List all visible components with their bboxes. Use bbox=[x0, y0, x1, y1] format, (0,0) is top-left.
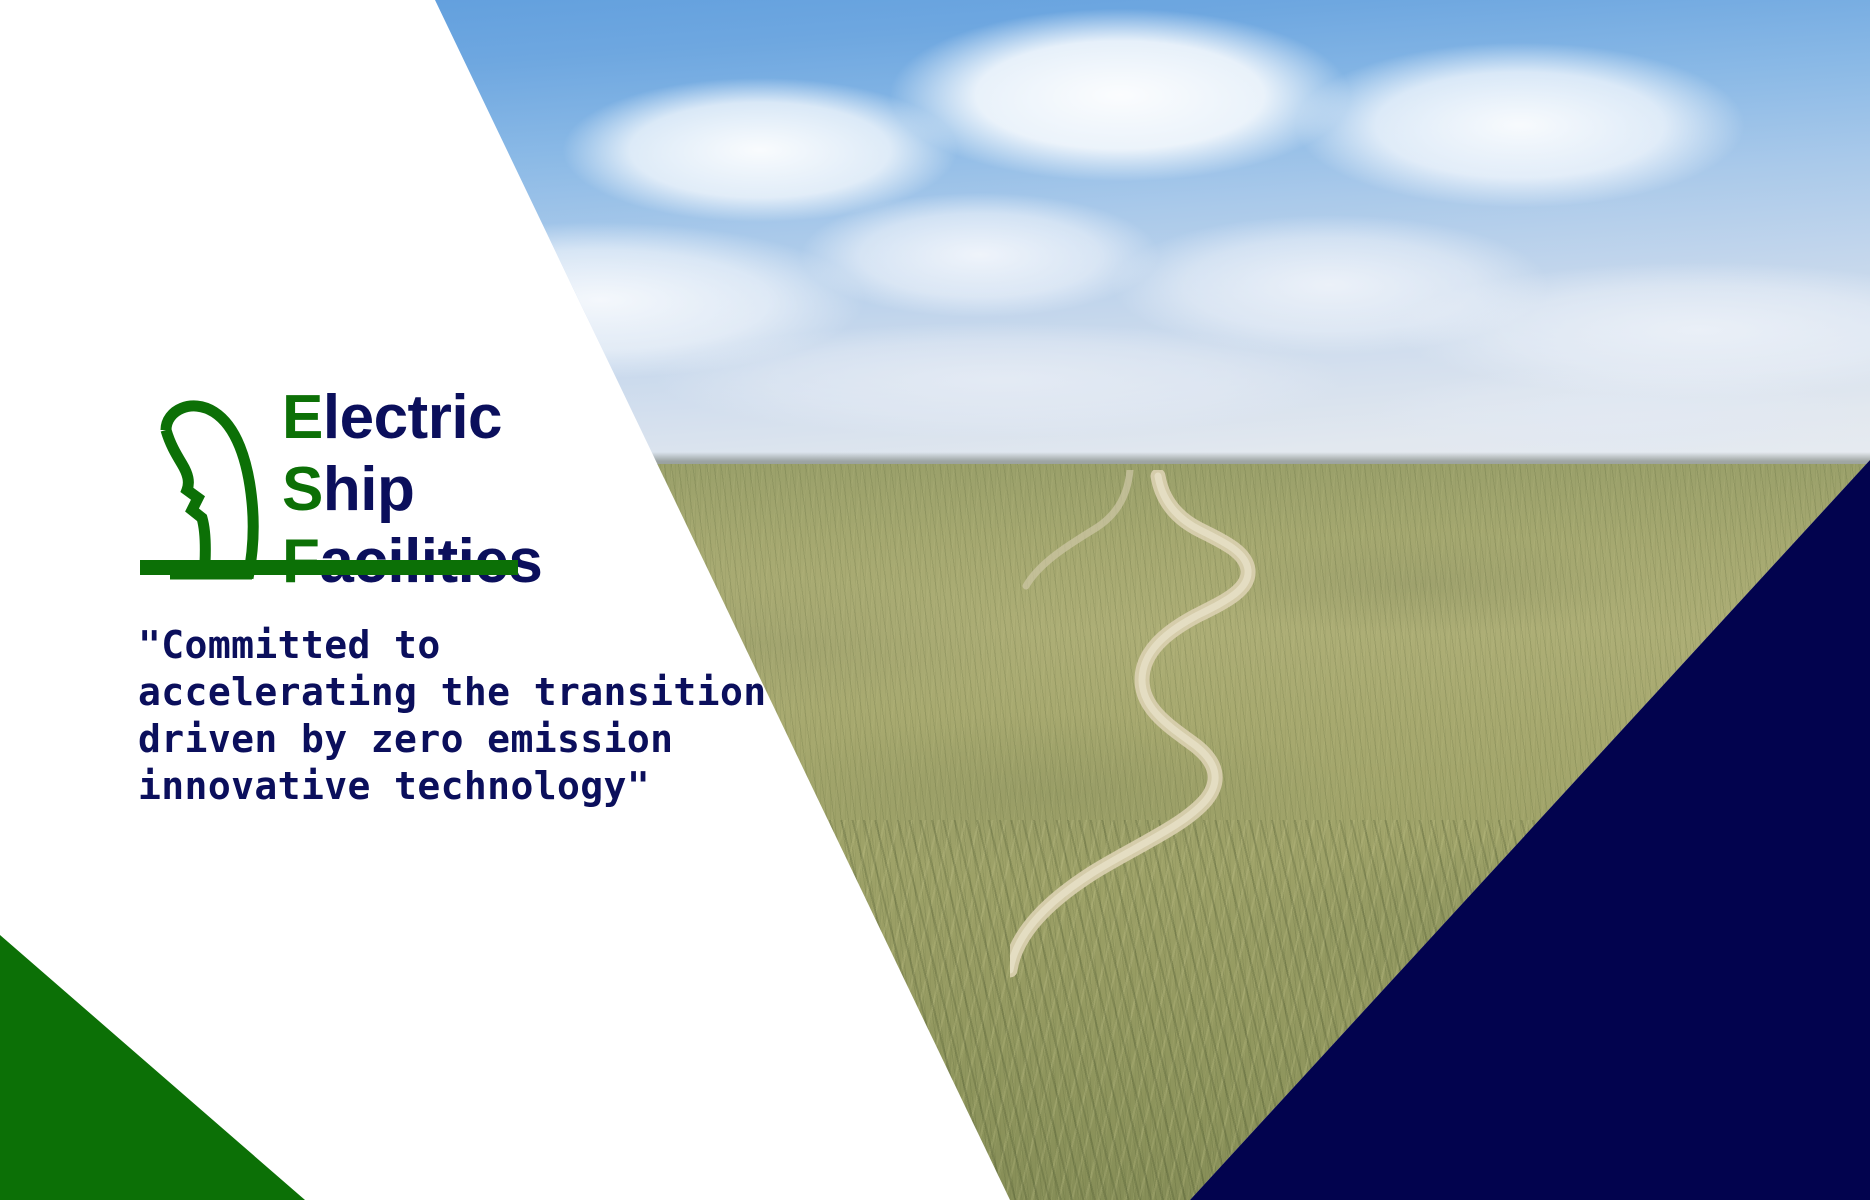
green-divider-rule bbox=[140, 560, 518, 575]
wordmark-cap-s: S bbox=[282, 455, 323, 524]
tagline-line-4: innovative technology" bbox=[138, 763, 898, 810]
tagline-line-3: driven by zero emission bbox=[138, 716, 898, 763]
wordmark-rest-ship: hip bbox=[323, 455, 414, 524]
wordmark-line-ship: Ship bbox=[282, 454, 542, 526]
wordmark-line-electric: Electric bbox=[282, 382, 542, 454]
wordmark-rest-electric: lectric bbox=[323, 383, 502, 452]
wordmark-cap-e: E bbox=[282, 383, 323, 452]
ship-sail-mark-icon bbox=[140, 382, 260, 582]
promo-banner: Electric Ship Facilities "Committed to a… bbox=[0, 0, 1870, 1200]
tagline-line-2: accelerating the transition bbox=[138, 669, 898, 716]
tagline: "Committed to accelerating the transitio… bbox=[138, 622, 898, 810]
tagline-line-1: "Committed to bbox=[138, 622, 898, 669]
